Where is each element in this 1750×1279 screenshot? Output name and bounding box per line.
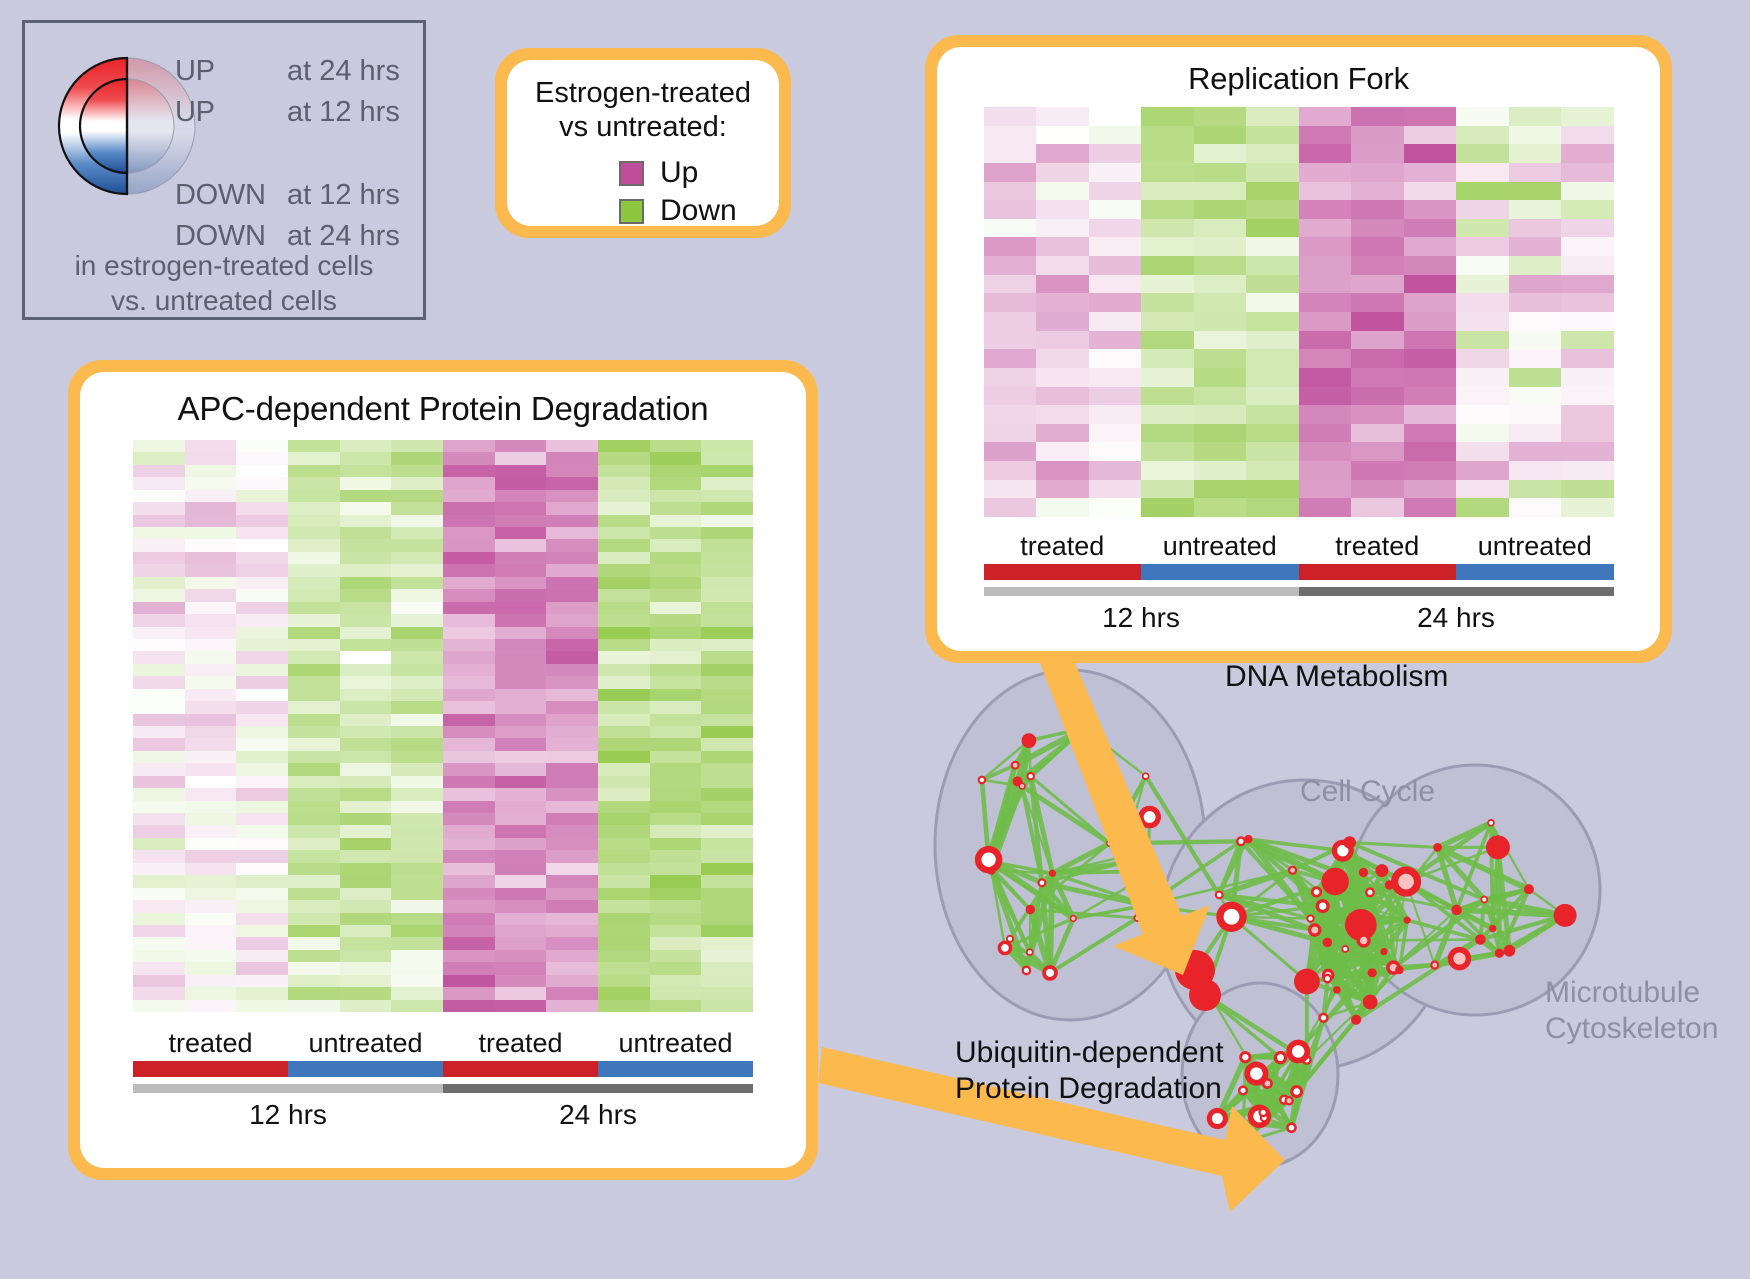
heat-cell [133,602,185,614]
network-node [1395,966,1404,975]
heat-cell [1509,200,1562,219]
heat-cell [133,440,185,452]
heat-cell [598,987,650,999]
heat-cell [288,440,340,452]
heat-cell [546,738,598,750]
heat-cell [1036,126,1089,145]
heat-cell [1246,349,1299,368]
heat-cell [1299,219,1352,238]
heat-cell [133,888,185,900]
heat-cell [650,589,702,601]
network-svg [905,640,1750,1279]
heat-cell [1036,312,1089,331]
heat-cell [1456,107,1509,126]
heat-cell [340,676,392,688]
heat-cell [546,552,598,564]
heat-cell [391,676,443,688]
timepoint-color-bar [133,1084,753,1093]
heat-cell [288,726,340,738]
heat-cell [1299,126,1352,145]
heat-cell [133,564,185,576]
heat-cell [1456,442,1509,461]
key-timepoint: at 12 hrs [287,96,400,129]
heat-cell [236,440,288,452]
heat-cell [1351,461,1404,480]
heat-cell [236,937,288,949]
heat-cell [650,738,702,750]
heat-cell [185,589,237,601]
heat-cell [650,987,702,999]
heat-cell [133,627,185,639]
heat-cell [133,975,185,987]
heat-cell [133,788,185,800]
heat-cell [1194,219,1247,238]
heat-cell [443,776,495,788]
heat-cell [1036,107,1089,126]
heat-cell [1194,163,1247,182]
network-node [1357,933,1371,947]
heat-cell [133,701,185,713]
replication-fork-panel: Replication Fork treated untreated treat… [925,35,1672,663]
heat-cell [701,738,753,750]
heat-cell [1561,144,1614,163]
heat-cell [701,913,753,925]
heat-cell [546,776,598,788]
condition-bar-untreated-12 [1141,564,1299,580]
network-node [1380,948,1387,955]
pathway-network-diagram [905,640,1750,1279]
heat-cell [340,552,392,564]
heat-cell [701,701,753,713]
heat-cell [236,813,288,825]
heat-cell [133,925,185,937]
cluster-label-microtubule-cytoskeleton: Microtubule Cytoskeleton [1545,975,1718,1047]
heat-cell [701,564,753,576]
heat-cell [1509,312,1562,331]
key-spacer [175,137,425,179]
replication-fork-title: Replication Fork [937,47,1660,97]
legend-label-up: Up [660,156,698,190]
timepoint-label: 24 hrs [443,1099,753,1131]
heat-cell [1561,200,1614,219]
heat-cell [288,850,340,862]
heat-cell [984,237,1037,256]
network-node [1524,884,1534,894]
heat-cell [1089,163,1142,182]
heat-cell [546,502,598,514]
heat-cell [391,825,443,837]
heat-cell [495,527,547,539]
heat-cell [236,1000,288,1012]
heat-cell [1036,461,1089,480]
network-node [1049,870,1056,877]
heat-cell [1456,312,1509,331]
heat-cell [650,577,702,589]
heat-cell [650,527,702,539]
network-node [1238,1085,1248,1095]
heat-cell [340,577,392,589]
heat-cell [288,527,340,539]
heat-cell [185,788,237,800]
heat-cell [495,900,547,912]
heat-cell [701,502,753,514]
heat-cell [340,502,392,514]
heat-cell [495,937,547,949]
heat-cell [340,738,392,750]
heat-cell [443,975,495,987]
heat-cell [701,602,753,614]
heat-cell [495,763,547,775]
timepoint-bar-12hrs [984,587,1299,596]
heat-cell [288,564,340,576]
heat-cell [443,950,495,962]
heat-cell [495,651,547,663]
heat-cell [984,498,1037,517]
heat-cell [391,515,443,527]
heat-cell [650,440,702,452]
heat-cell [185,614,237,626]
heat-cell [701,676,753,688]
network-node [1554,904,1577,927]
heat-cell [650,975,702,987]
heat-cell [1456,163,1509,182]
heat-cell [495,825,547,837]
heat-cell [133,863,185,875]
heat-cell [288,577,340,589]
heat-cell [391,900,443,912]
heat-cell [340,925,392,937]
heat-cell [443,614,495,626]
heat-cell [984,144,1037,163]
network-node [1070,915,1077,922]
heat-cell [1509,163,1562,182]
heat-cell [133,477,185,489]
heat-cell [391,925,443,937]
heat-cell [984,256,1037,275]
heat-cell [1299,498,1352,517]
heat-cell [598,751,650,763]
heat-cell [546,490,598,502]
network-node [1290,1085,1303,1098]
network-node [1239,1138,1247,1146]
heat-cell [443,925,495,937]
heat-cell [1194,200,1247,219]
network-node [1433,843,1442,852]
heat-cell [185,502,237,514]
key-caption-line-2: vs. untreated cells [25,283,423,318]
heat-cell [185,627,237,639]
heat-cell [1141,480,1194,499]
heat-cell [495,838,547,850]
network-node [1258,1108,1268,1118]
heat-cell [340,602,392,614]
heat-cell [185,552,237,564]
heat-cell [391,689,443,701]
condition-label-row: treated untreated treated untreated [984,531,1614,562]
heat-cell [391,651,443,663]
key-row: DOWN at 12 hrs [175,179,425,220]
heat-cell [443,564,495,576]
heat-cell [340,539,392,551]
heat-cell [1351,312,1404,331]
heat-cell [546,763,598,775]
heat-cell [1246,331,1299,350]
heat-cell [185,925,237,937]
heat-cell [391,602,443,614]
heat-cell [340,888,392,900]
network-node [1308,923,1321,936]
heat-cell [650,602,702,614]
apc-degradation-heatmap [133,440,753,1012]
heat-cell [391,502,443,514]
heat-cell [288,763,340,775]
heat-cell [1036,237,1089,256]
heat-cell [443,825,495,837]
heat-cell [1561,163,1614,182]
network-node [1026,905,1036,915]
heat-cell [1194,368,1247,387]
heat-cell [236,577,288,589]
network-node [1306,914,1314,922]
heat-cell [391,913,443,925]
heat-cell [1246,442,1299,461]
key-timepoint: at 12 hrs [287,179,400,212]
heat-cell [443,875,495,887]
heat-cell [598,676,650,688]
heat-cell [340,763,392,775]
heat-cell [701,925,753,937]
heat-cell [391,801,443,813]
heat-cell [185,975,237,987]
heat-cell [391,714,443,726]
heat-cell [185,664,237,676]
heat-cell [1299,275,1352,294]
heat-cell [546,477,598,489]
network-node [1448,947,1472,971]
heat-cell [701,639,753,651]
heat-cell [1299,349,1352,368]
heat-cell [236,801,288,813]
heat-cell [340,490,392,502]
heat-cell [598,589,650,601]
swatch-up-icon [619,161,644,186]
condition-label: untreated [598,1028,753,1059]
heat-cell [598,577,650,589]
heat-cell [443,801,495,813]
heat-cell [701,490,753,502]
heat-cell [701,539,753,551]
heat-cell [133,614,185,626]
heat-cell [340,515,392,527]
key-row: UP at 12 hrs [175,96,425,137]
heat-cell [1089,312,1142,331]
heat-cell [391,465,443,477]
heat-cell [133,577,185,589]
heat-cell [546,664,598,676]
heat-cell [495,614,547,626]
legend-item-list: Up Down [507,154,779,230]
heat-cell [495,639,547,651]
heat-cell [443,701,495,713]
heat-cell [495,552,547,564]
heat-cell [1351,219,1404,238]
heat-cell [1351,368,1404,387]
heat-cell [443,987,495,999]
heat-cell [185,602,237,614]
apc-degradation-inner: APC-dependent Protein Degradation treate… [80,372,806,1168]
heat-cell [1561,498,1614,517]
heat-cell [1246,144,1299,163]
heat-cell [598,527,650,539]
heat-cell [1299,200,1352,219]
heat-cell [133,801,185,813]
heat-cell [701,863,753,875]
heat-cell [236,776,288,788]
heat-cell [495,813,547,825]
heat-cell [133,875,185,887]
heat-cell [340,776,392,788]
heat-cell [984,107,1037,126]
heat-cell [185,452,237,464]
heat-cell [1141,424,1194,443]
heat-cell [650,490,702,502]
heat-cell [1089,237,1142,256]
heat-cell [288,987,340,999]
heat-cell [598,490,650,502]
heat-cell [701,527,753,539]
heat-cell [236,589,288,601]
heat-cell [495,515,547,527]
heat-cell [443,850,495,862]
heat-cell [1561,107,1614,126]
heat-cell [598,863,650,875]
heat-cell [133,900,185,912]
heat-cell [1089,461,1142,480]
heat-cell [598,452,650,464]
heat-cell [1351,442,1404,461]
heat-cell [133,987,185,999]
heat-cell [650,838,702,850]
heat-cell [288,539,340,551]
heat-cell [1509,107,1562,126]
heat-cell [1561,387,1614,406]
heat-cell [701,1000,753,1012]
heat-cell [984,312,1037,331]
heat-cell [1561,461,1614,480]
heat-cell [443,602,495,614]
heat-cell [650,875,702,887]
heat-cell [443,577,495,589]
heat-cell [1141,275,1194,294]
heat-cell [340,726,392,738]
network-node [1133,914,1141,922]
condition-label: untreated [288,1028,443,1059]
heat-cell [1246,387,1299,406]
heat-cell [650,502,702,514]
heat-cell [1509,424,1562,443]
heat-cell [443,888,495,900]
heat-cell [1351,498,1404,517]
heat-cell [546,639,598,651]
heat-cell [984,424,1037,443]
heat-cell [185,937,237,949]
heat-cell [340,714,392,726]
legend-label-down: Down [660,194,737,228]
heat-cell [598,838,650,850]
heat-cell [1561,424,1614,443]
heat-cell [546,987,598,999]
heat-cell [1509,144,1562,163]
heat-cell [1351,163,1404,182]
heat-cell [340,913,392,925]
heat-cell [1509,480,1562,499]
heat-cell [495,589,547,601]
heat-cell [495,602,547,614]
heat-cell [1404,293,1457,312]
heat-cell [984,480,1037,499]
heat-cell [443,515,495,527]
network-node [1106,840,1113,847]
heat-cell [495,850,547,862]
heat-cell [1404,331,1457,350]
heat-cell [546,651,598,663]
heat-cell [495,975,547,987]
heat-cell [133,726,185,738]
heat-cell [133,813,185,825]
heat-cell [1089,498,1142,517]
heat-cell [288,913,340,925]
heat-cell [133,838,185,850]
legend-item-down: Down [619,192,779,230]
heat-cell [598,738,650,750]
condition-label: treated [133,1028,288,1059]
heat-cell [1561,275,1614,294]
heat-cell [546,714,598,726]
heat-cell [391,850,443,862]
heat-cell [1351,275,1404,294]
heat-cell [391,937,443,949]
heat-cell [650,676,702,688]
heat-cell [1194,107,1247,126]
heat-cell [391,664,443,676]
heat-cell [340,987,392,999]
heat-cell [598,975,650,987]
heat-cell [1351,144,1404,163]
heat-cell [288,452,340,464]
heat-cell [185,1000,237,1012]
heat-cell [495,950,547,962]
network-node [1037,878,1046,887]
heat-cell [340,825,392,837]
heat-cell [133,527,185,539]
heat-cell [1404,498,1457,517]
heat-cell [495,714,547,726]
heat-cell [598,614,650,626]
heat-cell [1089,387,1142,406]
heat-cell [340,465,392,477]
heat-cell [1299,144,1352,163]
heat-cell [1246,312,1299,331]
heat-cell [650,515,702,527]
heat-cell [236,465,288,477]
condition-label: treated [443,1028,598,1059]
heat-cell [1246,368,1299,387]
heat-cell [1089,368,1142,387]
heat-cell [1456,219,1509,238]
heat-cell [236,676,288,688]
heat-cell [701,726,753,738]
heat-cell [391,539,443,551]
